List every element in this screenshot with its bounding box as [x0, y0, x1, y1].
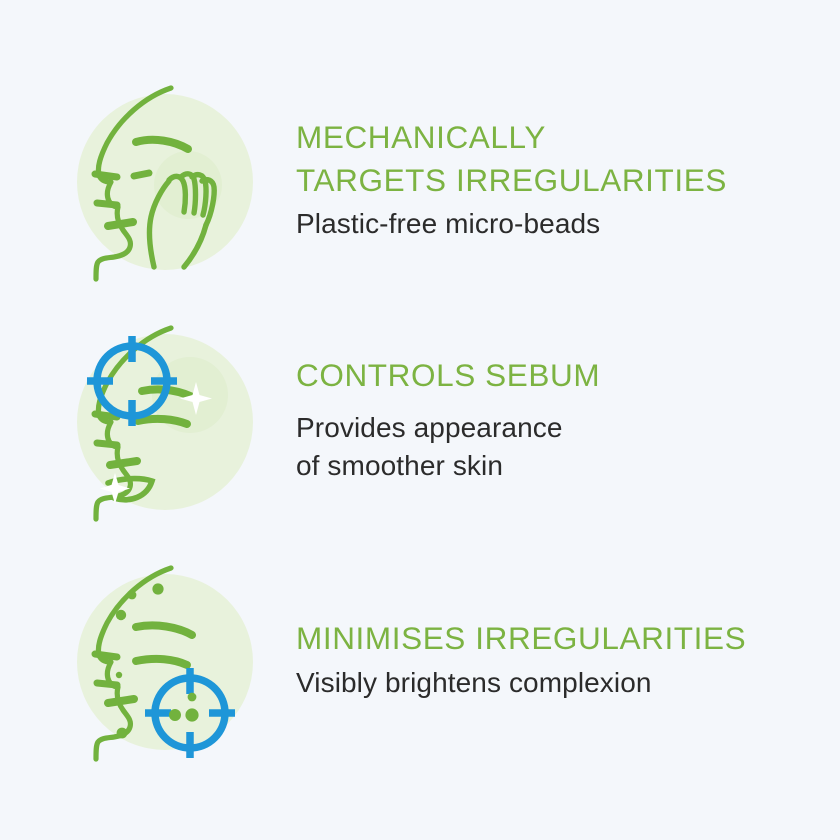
benefit-row: MINIMISES IRREGULARITIES Visibly brighte… — [0, 565, 840, 755]
blemish-dot — [152, 583, 163, 594]
blemish-dot — [116, 610, 126, 620]
benefit-heading: CONTROLS SEBUM — [296, 354, 840, 397]
benefit-row: MECHANICALLY TARGETS IRREGULARITIES Plas… — [0, 85, 840, 275]
benefits-panel: MECHANICALLY TARGETS IRREGULARITIES Plas… — [0, 0, 840, 840]
benefit-text-block: MECHANICALLY TARGETS IRREGULARITIES Plas… — [296, 116, 840, 244]
face-hand-touching-cheek-icon — [70, 85, 260, 275]
face-blemishes-crosshair-jaw-icon — [70, 565, 260, 755]
blemish-dot — [116, 672, 122, 678]
benefit-subtitle: Provides appearance of smoother skin — [296, 409, 840, 483]
benefit-subtitle: Visibly brightens complexion — [296, 664, 840, 701]
benefit-row: CONTROLS SEBUM Provides appearance of sm… — [0, 325, 840, 515]
benefit-text-block: CONTROLS SEBUM Provides appearance of sm… — [296, 354, 840, 486]
benefit-heading: MECHANICALLY TARGETS IRREGULARITIES — [296, 116, 840, 202]
benefit-text-block: MINIMISES IRREGULARITIES Visibly brighte… — [296, 617, 840, 703]
blemish-dot — [128, 591, 137, 600]
blemish-dot — [117, 728, 128, 739]
face-crosshair-forehead-sparkle-icon — [70, 325, 260, 515]
benefit-heading: MINIMISES IRREGULARITIES — [296, 617, 840, 660]
benefit-subtitle: Plastic-free micro-beads — [296, 205, 840, 242]
